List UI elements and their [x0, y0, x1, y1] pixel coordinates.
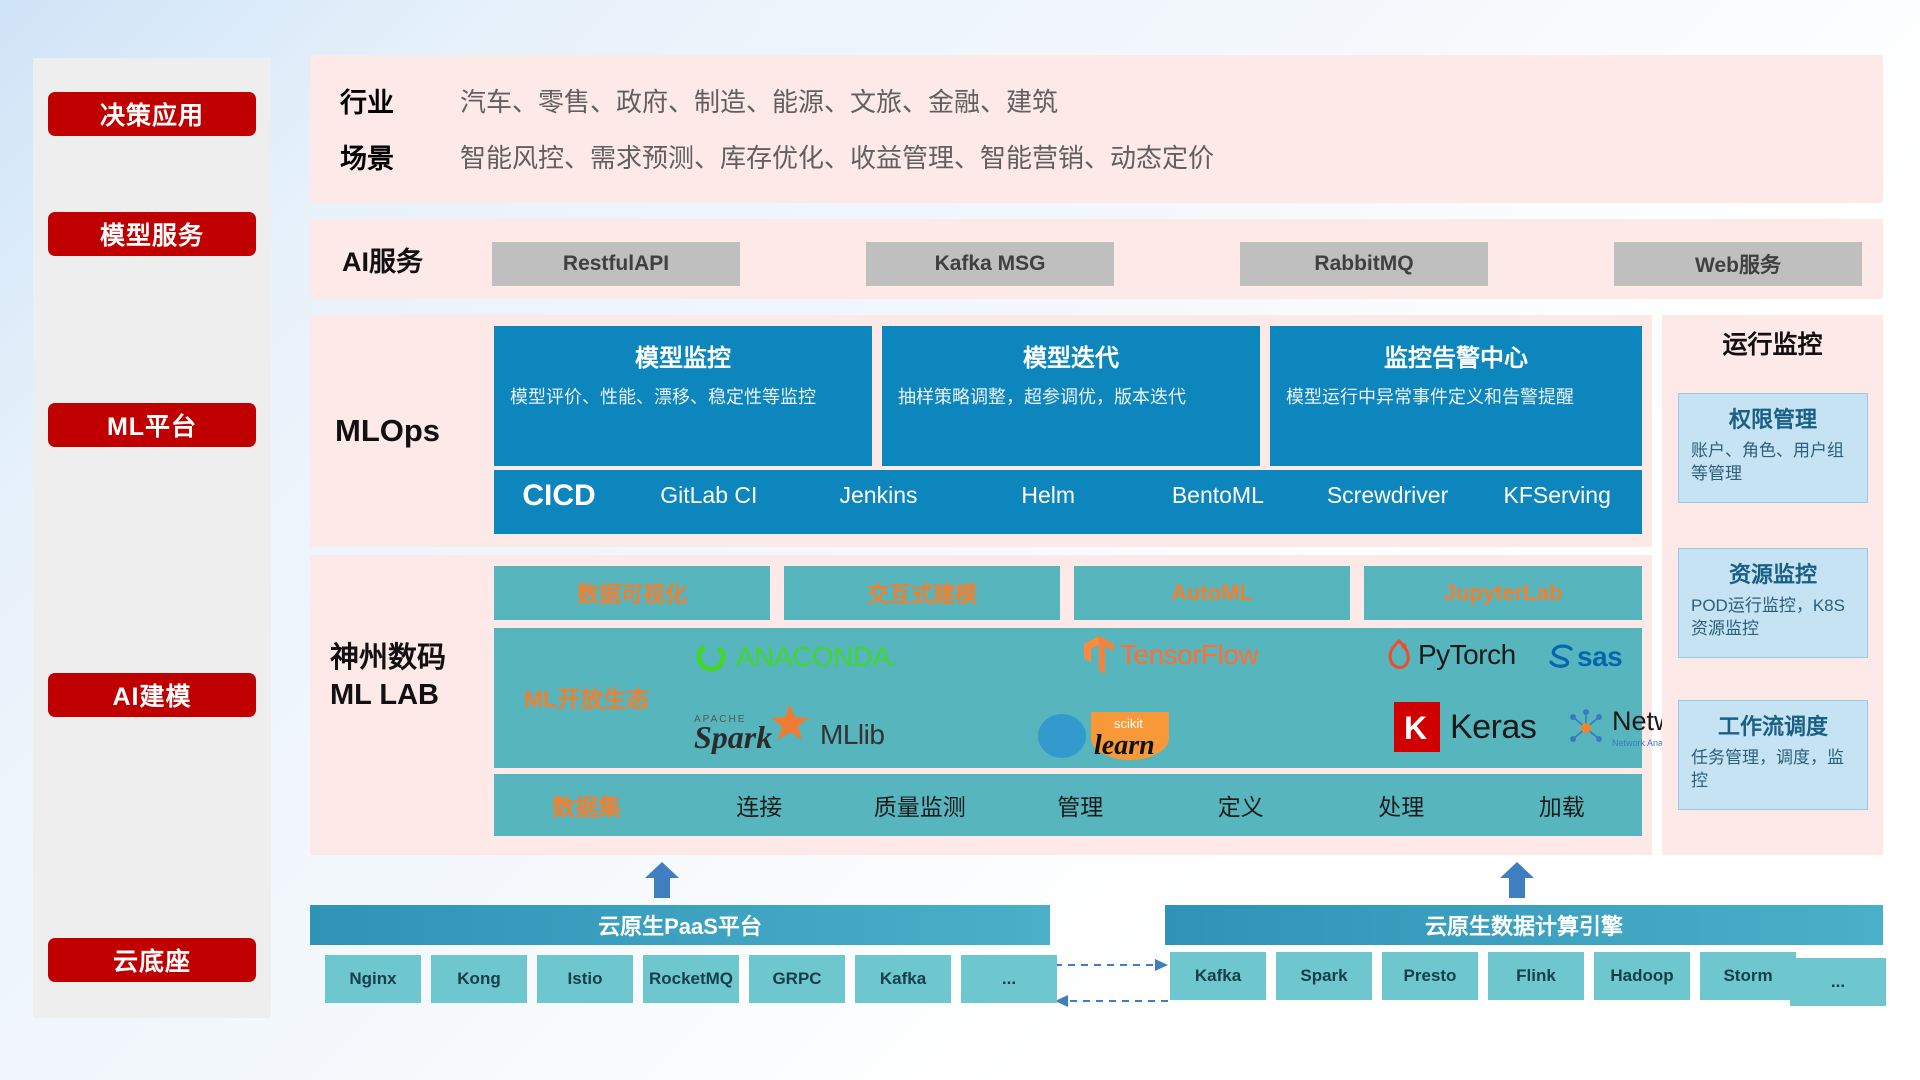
svg-text:scikit: scikit — [1114, 716, 1143, 731]
anaconda-logo: ANACONDA. — [694, 640, 898, 674]
monitor-title: 运行监控 — [1662, 325, 1883, 361]
industry-row-value: 汽车、零售、政府、制造、能源、文旅、金融、建筑 — [460, 82, 1058, 119]
pytorch-logo-text: PyTorch — [1418, 639, 1516, 671]
dashed-exchange-arrows-icon — [1055, 955, 1170, 1015]
networkx-icon — [1566, 709, 1606, 747]
data-chip-flink[interactable]: Flink — [1488, 952, 1584, 1000]
keras-icon: K — [1394, 702, 1440, 752]
tensorflow-logo-text: TensorFlow — [1120, 639, 1258, 671]
ml-lab-label: 神州数码 ML LAB — [330, 640, 446, 714]
mlops-card-title: 模型监控 — [510, 338, 856, 373]
ml-ecosystem-label: ML开放生态 — [524, 680, 649, 714]
layer-tag-model-service[interactable]: 模型服务 — [48, 212, 256, 256]
mlops-label: MLOps — [335, 315, 440, 547]
cloud-chip-kafka[interactable]: Kafka — [855, 955, 951, 1003]
mlops-card-desc: 抽样策略调整，超参调优，版本迭代 — [898, 385, 1244, 410]
mlops-card-model-monitoring[interactable]: 模型监控 模型评价、性能、漂移、稳定性等监控 — [494, 326, 872, 466]
layer-tag-ml-platform[interactable]: ML平台 — [48, 403, 256, 447]
up-arrow-paas-icon — [645, 862, 679, 898]
monitor-card-resources[interactable]: 资源监控 POD运行监控，K8S资源监控 — [1678, 548, 1868, 658]
cloud-paas-bar[interactable]: 云原生PaaS平台 — [310, 905, 1050, 945]
monitor-card-title: 工作流调度 — [1691, 709, 1855, 741]
layer-tag-label: ML平台 — [107, 407, 197, 443]
tensorflow-logo: TensorFlow — [1084, 636, 1258, 674]
anaconda-logo-text: ANACONDA. — [736, 641, 898, 673]
lab-tab-automl[interactable]: AutoML — [1074, 566, 1350, 620]
cloud-chip-kong[interactable]: Kong — [431, 955, 527, 1003]
sas-icon — [1549, 643, 1575, 671]
keras-logo-text: Keras — [1450, 708, 1536, 747]
svg-text:K: K — [1404, 710, 1427, 746]
keras-logo: K Keras — [1394, 702, 1536, 752]
mlops-card-title: 模型迭代 — [898, 338, 1244, 373]
monitor-card-workflow[interactable]: 工作流调度 任务管理，调度，监控 — [1678, 700, 1868, 810]
spark-mllib-logo: APACHE Spark MLlib — [694, 702, 884, 754]
monitor-card-title: 资源监控 — [1691, 557, 1855, 589]
cloud-dataengine-bar[interactable]: 云原生数据计算引擎 — [1165, 905, 1883, 945]
cicd-item-jenkins[interactable]: Jenkins — [794, 479, 964, 509]
industry-row: 行业 汽车、零售、政府、制造、能源、文旅、金融、建筑 — [340, 81, 1058, 120]
cloud-chip-rocketmq[interactable]: RocketMQ — [643, 955, 739, 1003]
dataset-item-load[interactable]: 加载 — [1482, 788, 1643, 822]
monitor-card-desc: 账户、角色、用户组等管理 — [1691, 440, 1855, 486]
svg-text:learn: learn — [1094, 730, 1155, 760]
dataset-item-manage[interactable]: 管理 — [1000, 788, 1161, 822]
dataset-item-connect[interactable]: 连接 — [679, 788, 840, 822]
monitor-card-desc: POD运行监控，K8S资源监控 — [1691, 595, 1855, 641]
industry-row-key: 行业 — [340, 81, 460, 120]
apache-spark-icon: APACHE Spark — [694, 702, 814, 754]
dataset-item-define[interactable]: 定义 — [1161, 788, 1322, 822]
mlops-card-desc: 模型评价、性能、漂移、稳定性等监控 — [510, 385, 856, 410]
cicd-item-bentoml[interactable]: BentoML — [1133, 479, 1303, 509]
cicd-item-gitlab-ci[interactable]: GitLab CI — [624, 479, 794, 509]
industry-band: 行业 汽车、零售、政府、制造、能源、文旅、金融、建筑 场景 智能风控、需求预测、… — [310, 55, 1883, 203]
up-arrow-dataengine-icon — [1500, 862, 1534, 898]
mlops-card-title: 监控告警中心 — [1286, 338, 1626, 373]
layer-tag-label: 决策应用 — [100, 96, 204, 132]
ml-lab-label-line1: 神州数码 — [330, 640, 446, 677]
layer-tag-ai-modeling[interactable]: AI建模 — [48, 673, 256, 717]
cloud-chip-grpc[interactable]: GRPC — [749, 955, 845, 1003]
cicd-title: CICD — [494, 479, 624, 513]
ai-service-label: AI服务 — [342, 219, 423, 299]
svg-text:Spark: Spark — [694, 719, 772, 754]
pytorch-icon — [1384, 638, 1414, 672]
layer-rail — [33, 58, 271, 1018]
cicd-item-screwdriver[interactable]: Screwdriver — [1303, 479, 1473, 509]
layer-tag-label: AI建模 — [112, 677, 191, 713]
data-chip-hadoop[interactable]: Hadoop — [1594, 952, 1690, 1000]
mlops-card-model-iteration[interactable]: 模型迭代 抽样策略调整，超参调优，版本迭代 — [882, 326, 1260, 466]
scikit-learn-logo: scikit learn — [1036, 704, 1196, 760]
cloud-chip-istio[interactable]: Istio — [537, 955, 633, 1003]
layer-tag-label: 云底座 — [113, 942, 191, 978]
scenario-row-value: 智能风控、需求预测、库存优化、收益管理、智能营销、动态定价 — [460, 138, 1214, 175]
data-chip-kafka[interactable]: Kafka — [1170, 952, 1266, 1000]
mllib-logo-text: MLlib — [820, 719, 884, 751]
dataset-label: 数据集 — [494, 788, 679, 822]
cloud-chip-nginx[interactable]: Nginx — [325, 955, 421, 1003]
service-button-kafka-msg[interactable]: Kafka MSG — [866, 242, 1114, 286]
service-button-web[interactable]: Web服务 — [1614, 242, 1862, 286]
architecture-diagram: 决策应用 模型服务 ML平台 AI建模 云底座 行业 汽车、零售、政府、制造、能… — [0, 0, 1920, 1080]
sas-logo: sas — [1549, 641, 1622, 673]
layer-tag-cloud-base[interactable]: 云底座 — [48, 938, 256, 982]
monitor-card-title: 权限管理 — [1691, 402, 1855, 434]
ml-ecosystem-panel: ML开放生态 ANACONDA. TensorFlow PyTorch — [494, 628, 1642, 768]
lab-tab-jupyterlab[interactable]: JupyterLab — [1364, 566, 1642, 620]
data-chip-spark[interactable]: Spark — [1276, 952, 1372, 1000]
scikit-learn-icon: scikit learn — [1036, 704, 1196, 760]
sas-logo-text: sas — [1577, 641, 1622, 673]
layer-tag-label: 模型服务 — [100, 216, 204, 252]
data-chip-storm[interactable]: Storm — [1700, 952, 1796, 1000]
monitor-card-permissions[interactable]: 权限管理 账户、角色、用户组等管理 — [1678, 393, 1868, 503]
mlops-card-alert-center[interactable]: 监控告警中心 模型运行中异常事件定义和告警提醒 — [1270, 326, 1642, 466]
service-button-restfulapi[interactable]: RestfulAPI — [492, 242, 740, 286]
cicd-bar: CICD GitLab CI Jenkins Helm BentoML Scre… — [494, 470, 1642, 534]
dataset-item-process[interactable]: 处理 — [1321, 788, 1482, 822]
anaconda-icon — [694, 640, 728, 674]
lab-tab-interactive-modeling[interactable]: 交互式建模 — [784, 566, 1060, 620]
scenario-row: 场景 智能风控、需求预测、库存优化、收益管理、智能营销、动态定价 — [340, 137, 1214, 176]
dataset-bar: 数据集 连接 质量监测 管理 定义 处理 加载 — [494, 774, 1642, 836]
cicd-item-kfserving[interactable]: KFServing — [1472, 479, 1642, 509]
data-chip-more[interactable]: ... — [1790, 958, 1886, 1006]
data-chip-presto[interactable]: Presto — [1382, 952, 1478, 1000]
layer-tag-decision[interactable]: 决策应用 — [48, 92, 256, 136]
lab-tab-data-visualization[interactable]: 数据可视化 — [494, 566, 770, 620]
ml-lab-label-line2: ML LAB — [330, 677, 446, 714]
pytorch-logo: PyTorch — [1384, 638, 1516, 672]
service-button-rabbitmq[interactable]: RabbitMQ — [1240, 242, 1488, 286]
scenario-row-key: 场景 — [340, 137, 460, 176]
cicd-item-helm[interactable]: Helm — [963, 479, 1133, 509]
mlops-card-desc: 模型运行中异常事件定义和告警提醒 — [1286, 385, 1626, 410]
cloud-chip-more[interactable]: ... — [961, 955, 1057, 1003]
dataset-item-quality[interactable]: 质量监测 — [840, 788, 1001, 822]
monitor-card-desc: 任务管理，调度，监控 — [1691, 747, 1855, 793]
tensorflow-icon — [1084, 636, 1114, 674]
